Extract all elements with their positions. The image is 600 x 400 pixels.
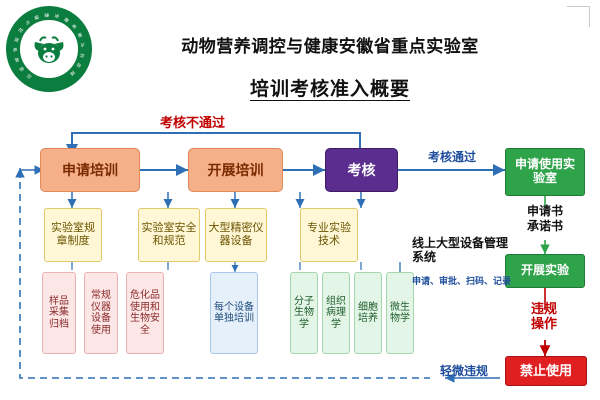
node-per-device-training[interactable]: 每个设备单独培训 bbox=[210, 272, 258, 354]
node-hazard-biosafety[interactable]: 危化品使用和生物安全 bbox=[126, 272, 164, 354]
node-ban-use-label: 禁止使用 bbox=[520, 364, 572, 379]
node-microbiology-label: 微生物学 bbox=[389, 302, 411, 325]
label-online-system-title: 线上大型设备管理系统 bbox=[412, 236, 508, 265]
node-sample-archive-label: 样品采集归档 bbox=[46, 296, 72, 331]
node-routine-equipment-label: 常规仪器设备使用 bbox=[88, 290, 114, 336]
node-lab-safety-label: 实验室安全和规范 bbox=[141, 222, 197, 247]
node-cell-culture-label: 细胞培养 bbox=[357, 302, 379, 325]
label-minor-violation: 轻微违规 bbox=[440, 362, 488, 379]
node-lab-safety[interactable]: 实验室安全和规范 bbox=[138, 208, 200, 262]
node-hazard-biosafety-label: 危化品使用和生物安全 bbox=[130, 290, 160, 336]
node-assessment-label: 考核 bbox=[348, 162, 376, 178]
label-application-docs: 申请书 承诺书 bbox=[508, 204, 582, 234]
node-molecular-biology-label: 分子生物学 bbox=[293, 296, 315, 331]
node-sample-archive[interactable]: 样品采集归档 bbox=[42, 272, 76, 354]
node-histopathology[interactable]: 组织病理学 bbox=[322, 272, 350, 354]
node-histopathology-label: 组织病理学 bbox=[325, 296, 347, 331]
node-apply-training[interactable]: 申请培训 bbox=[40, 148, 140, 192]
node-assessment[interactable]: 考核 bbox=[325, 148, 398, 192]
node-apply-lab-use[interactable]: 申请使用实验室 bbox=[505, 148, 585, 196]
node-large-instruments[interactable]: 大型精密仪器设备 bbox=[205, 208, 267, 262]
node-start-training[interactable]: 开展培训 bbox=[188, 148, 283, 192]
page-title-line2: 培训考核准入概要 bbox=[100, 74, 560, 101]
node-per-device-training-label: 每个设备单独培训 bbox=[214, 302, 254, 325]
diagram-root: 动物营养调控与健康安徽省重点实验室 动物营养调控与健康安徽省重点实验室 bbox=[0, 0, 600, 400]
label-violation: 违规 操作 bbox=[512, 302, 576, 332]
page-title-line1: 动物营养调控与健康安徽省重点实验室 bbox=[100, 32, 560, 57]
node-large-instruments-label: 大型精密仪器设备 bbox=[208, 222, 264, 247]
label-online-system-sub: 申请、审批、扫码、记录 bbox=[412, 274, 512, 287]
node-microbiology[interactable]: 微生物学 bbox=[386, 272, 414, 354]
node-professional-skills-label: 专业实验技术 bbox=[303, 222, 355, 247]
node-molecular-biology[interactable]: 分子生物学 bbox=[290, 272, 318, 354]
node-start-training-label: 开展培训 bbox=[208, 162, 264, 178]
node-lab-rules[interactable]: 实验室规章制度 bbox=[44, 208, 102, 262]
node-cell-culture[interactable]: 细胞培养 bbox=[354, 272, 382, 354]
label-fail-review: 考核不通过 bbox=[160, 112, 225, 131]
page-corner-mark bbox=[567, 6, 590, 27]
page-title-line2-text: 培训考核准入概要 bbox=[250, 79, 410, 100]
node-apply-training-label: 申请培训 bbox=[62, 162, 118, 178]
node-apply-lab-use-label: 申请使用实验室 bbox=[510, 158, 580, 186]
label-pass-review: 考核通过 bbox=[428, 148, 476, 165]
node-ban-use[interactable]: 禁止使用 bbox=[505, 356, 587, 386]
node-professional-skills[interactable]: 专业实验技术 bbox=[300, 208, 358, 262]
lab-logo: 动物营养调控与健康安徽省重点实验室 bbox=[6, 6, 92, 92]
logo-inner bbox=[18, 18, 80, 80]
node-start-experiment[interactable]: 开展实验 bbox=[505, 254, 585, 288]
cow-head-icon bbox=[29, 29, 69, 69]
node-routine-equipment[interactable]: 常规仪器设备使用 bbox=[84, 272, 118, 354]
node-start-experiment-label: 开展实验 bbox=[521, 264, 569, 278]
node-lab-rules-label: 实验室规章制度 bbox=[47, 222, 99, 247]
